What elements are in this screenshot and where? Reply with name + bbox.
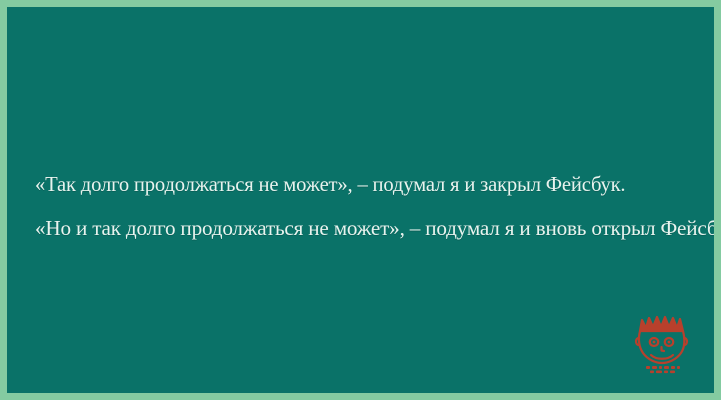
quote-line-2: «Но и так долго продолжаться не может», …: [35, 206, 697, 250]
cartoon-face-logo-icon: [634, 313, 692, 375]
quote-card: «Так долго продолжаться не может», – под…: [0, 0, 721, 400]
quote-line-1: «Так долго продолжаться не может», – под…: [35, 162, 680, 206]
quote-text-block: «Так долго продолжаться не может», – под…: [35, 162, 707, 250]
